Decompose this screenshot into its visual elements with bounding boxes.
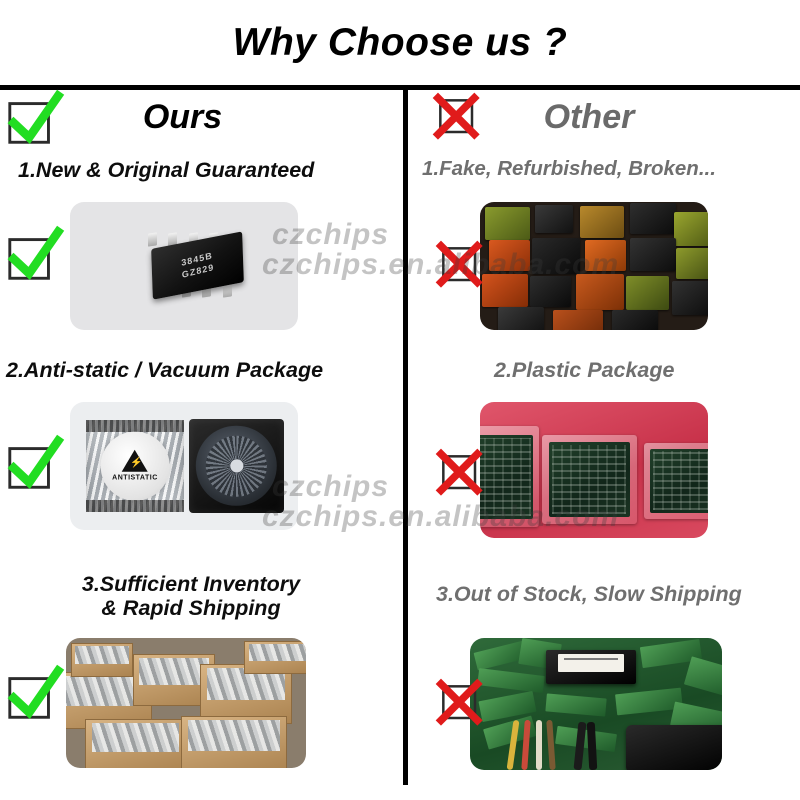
black-plastic-case <box>626 725 722 770</box>
black-module <box>546 650 637 684</box>
component-reel <box>196 426 276 506</box>
esd-warning-icon <box>122 450 148 472</box>
cross-mark-icon <box>432 92 482 142</box>
antistatic-caption: ANTISTATIC <box>112 475 158 482</box>
cross-mark-icon <box>435 240 485 290</box>
scrap-boards-photo <box>470 638 722 770</box>
reel-box <box>189 419 285 514</box>
ours-row-1-label: 1.New & Original Guaranteed <box>18 158 314 182</box>
new-original-chip-photo: 3845B GZ829 <box>70 202 298 330</box>
other-row-1-label: 1.Fake, Refurbished, Broken... <box>422 158 716 181</box>
antistatic-bag: ANTISTATIC <box>86 420 184 512</box>
page-title: Why Choose us ? <box>0 0 800 85</box>
ours-row-3-label: 3.Sufficient Inventory & Rapid Shipping <box>46 572 336 620</box>
why-choose-us-comparison: Why Choose us ? Ours 1.New & Original Gu… <box>0 0 800 800</box>
pcb-plastic-bags-photo <box>480 402 708 538</box>
other-row-2-label: 2.Plastic Package <box>494 358 674 382</box>
ours-row-2-label: 2.Anti-static / Vacuum Package <box>6 358 323 382</box>
check-mark-icon <box>4 437 62 495</box>
inventory-boxes-photo <box>66 638 306 768</box>
check-mark-icon <box>4 667 62 725</box>
check-mark-icon <box>4 92 62 150</box>
cross-mark-icon <box>435 678 485 728</box>
antistatic-bag-reel-photo: ANTISTATIC <box>70 402 298 530</box>
other-row-3-label: 3.Out of Stock, Slow Shipping <box>436 582 742 606</box>
scrap-cpu-pile-photo <box>480 202 708 330</box>
check-mark-icon <box>4 228 62 286</box>
cross-mark-icon <box>435 448 485 498</box>
